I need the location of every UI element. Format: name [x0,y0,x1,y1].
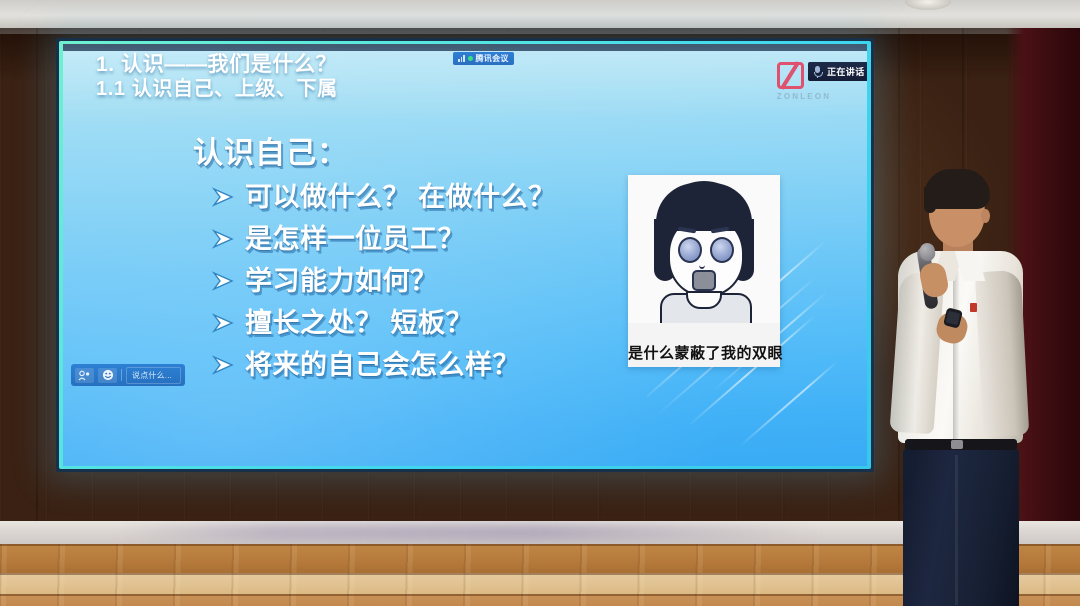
slide-heading-2: 1.1 认识自己、上级、下属 [96,77,566,102]
chat-bar[interactable]: 说点什么... [71,364,185,386]
signal-bars-icon [458,55,465,62]
arrow-bullet-icon [211,185,235,209]
slide-body: 认识自己： 可以做什么？ 在做什么？ 是怎样一位员工？ 学习能力如何？ [193,134,623,388]
arrow-bullet-icon [211,311,235,335]
chat-divider [121,369,122,381]
list-item-label: 擅长之处？ 短板？ [245,304,473,342]
chat-input[interactable]: 说点什么... [126,367,181,384]
meeting-label: 腾讯会议 [476,53,509,64]
presenter-hair-side [924,187,936,213]
wall-seam [36,28,38,533]
brand-name: ZONLEON [769,92,839,101]
list-item-label: 将来的自己会怎么样？ [245,346,520,384]
arrow-bullet-icon [211,227,235,251]
presenter-lapel-badge [970,303,977,312]
meme-fringe [656,183,752,231]
presenter-belt-buckle [951,440,963,449]
arrow-bullet-icon [211,269,235,293]
zonleon-logo-icon [777,62,804,89]
list-item-label: 是怎样一位员工？ [245,220,465,258]
meme-eye [710,237,734,263]
slide-body-title: 认识自己： [193,134,623,174]
presenter-trousers [903,447,1019,606]
recording-dot-icon [468,56,473,61]
presenter-right-arm [975,270,1030,437]
meme-nose [699,261,705,269]
meme-image: 是什么蒙蔽了我的双眼 [628,175,780,367]
presenter-ear [981,209,990,223]
list-item-label: 可以做什么？ 在做什么？ [245,178,556,216]
screenshot-root: 1. 认识——我们是什么？ 1.1 认识自己、上级、下属 腾讯会议 ZONLEO… [0,0,1080,606]
list-item-label: 学习能力如何？ [245,262,438,300]
list-item: 学习能力如何？ [211,262,623,300]
speaking-status-badge: 正在讲话 [808,62,867,81]
participants-icon[interactable] [75,368,94,383]
emoji-icon[interactable] [98,368,117,383]
meme-caption: 是什么蒙蔽了我的双眼 [628,342,780,363]
list-item: 擅长之处？ 短板？ [211,304,623,342]
projector-screen: 1. 认识——我们是什么？ 1.1 认识自己、上级、下属 腾讯会议 ZONLEO… [63,44,867,466]
microphone-icon [814,66,821,78]
meme-illustration [628,175,780,323]
arrow-bullet-icon [211,353,235,377]
presenter [893,163,1028,606]
presenter-shirt-placket [953,271,960,441]
meeting-status-pill[interactable]: 腾讯会议 [453,52,514,65]
list-item: 将来的自己会怎么样？ [211,346,623,384]
ceiling-light-icon [905,0,951,10]
meme-mouth [692,270,716,291]
chat-input-placeholder: 说点什么... [132,370,178,381]
presenter-trouser-pleat [955,455,958,605]
list-item: 可以做什么？ 在做什么？ [211,178,623,216]
meme-eye [678,237,702,263]
list-item: 是怎样一位员工？ [211,220,623,258]
speaking-label: 正在讲话 [827,65,865,78]
meeting-toolbar [63,44,867,51]
